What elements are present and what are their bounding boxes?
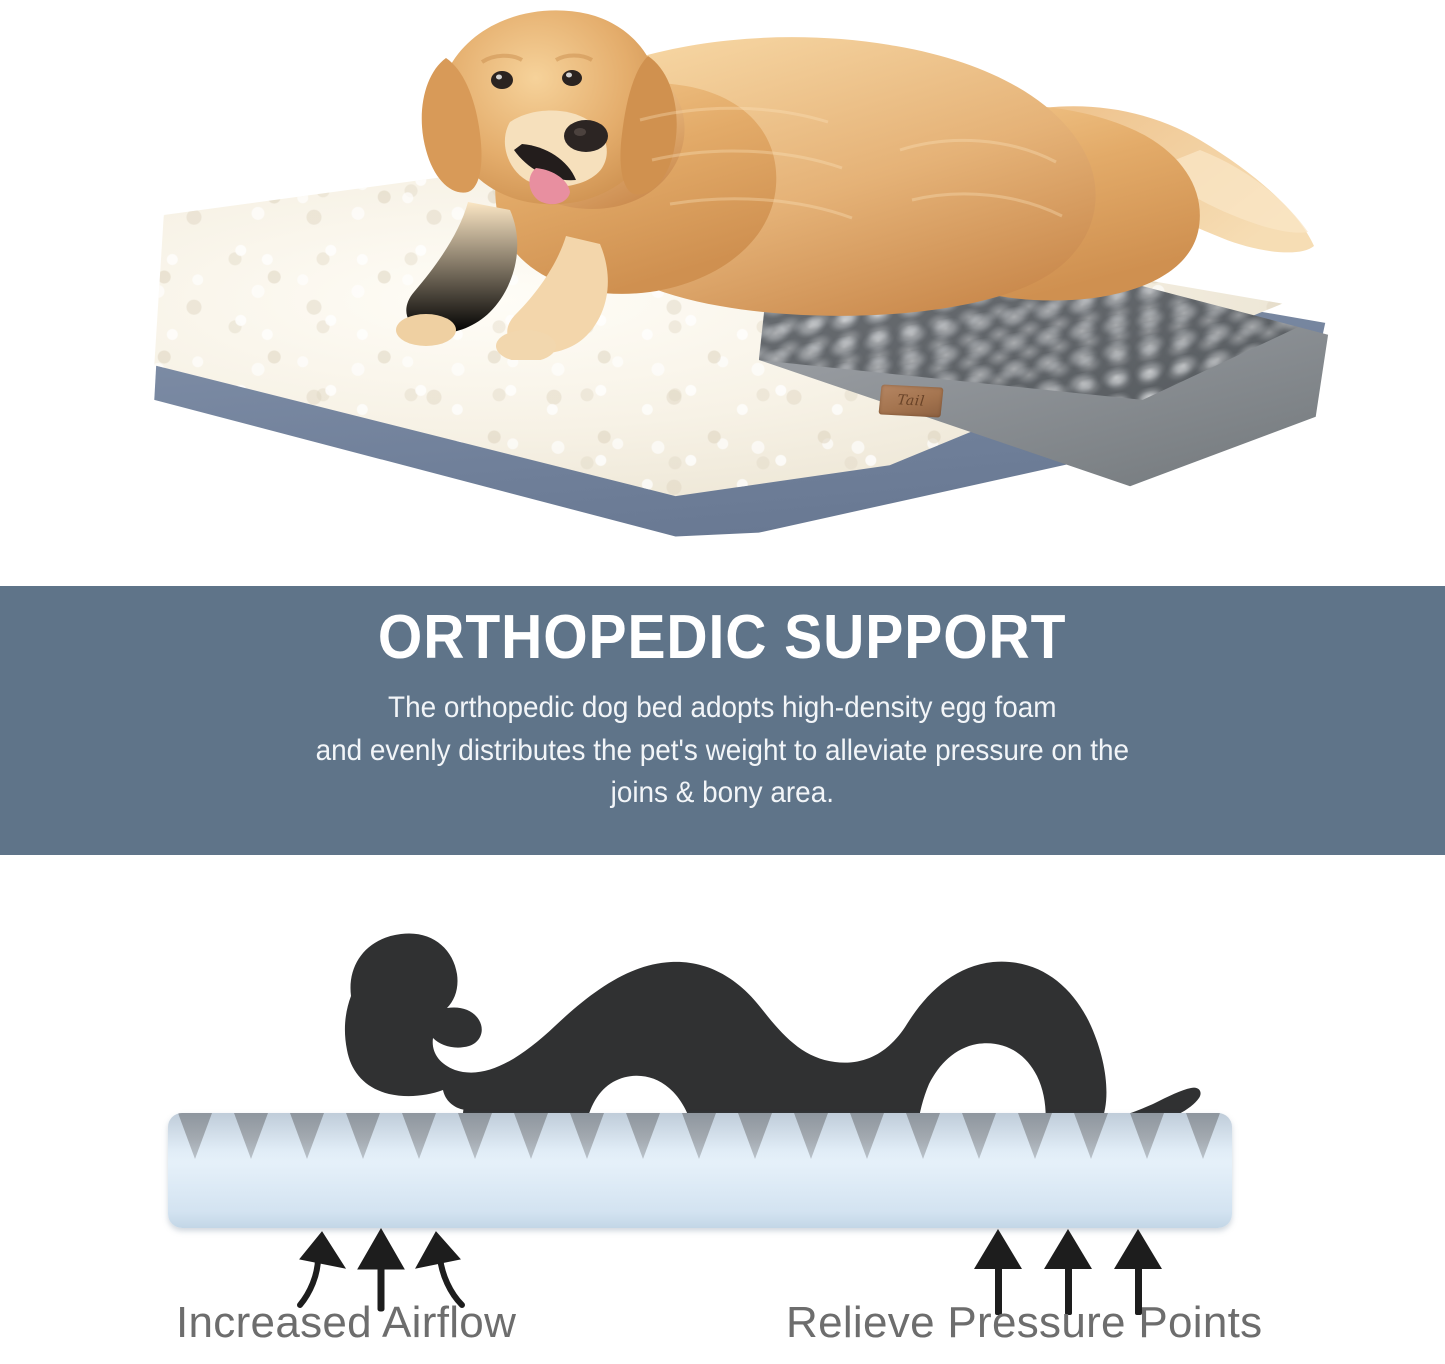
banner-title: ORTHOPEDIC SUPPORT (378, 606, 1066, 669)
dog-front-leg-left (406, 202, 517, 333)
caption-increased-airflow: Increased Airflow (176, 1298, 516, 1348)
banner-body: The orthopedic dog bed adopts high-densi… (316, 687, 1129, 815)
banner-body-line-2: and evenly distributes the pet's weight … (316, 730, 1129, 773)
product-feature-page: Tail (0, 0, 1445, 1364)
dog-nose (564, 120, 608, 152)
brand-tag: Tail (879, 385, 944, 418)
golden-retriever-photo (300, 0, 1360, 360)
dog-eye-right (562, 70, 582, 86)
hero-photo: Tail (0, 0, 1445, 586)
dog-head (422, 10, 677, 204)
banner-body-line-3: joins & bony area. (316, 772, 1129, 815)
banner-body-line-1: The orthopedic dog bed adopts high-densi… (316, 687, 1129, 730)
caption-relieve-pressure-points: Relieve Pressure Points (786, 1298, 1262, 1348)
brand-tag-label: Tail (897, 393, 926, 410)
airflow-pressure-diagram: Increased Airflow Relieve Pressure Point… (0, 855, 1445, 1364)
diagram-stage: Increased Airflow Relieve Pressure Point… (0, 855, 1445, 1364)
hero-photo-section: Tail (0, 0, 1445, 586)
orthopedic-support-banner: ORTHOPEDIC SUPPORT The orthopedic dog be… (0, 586, 1445, 855)
diagram-arrows (0, 855, 1445, 1364)
dog-eye-left (491, 71, 513, 89)
